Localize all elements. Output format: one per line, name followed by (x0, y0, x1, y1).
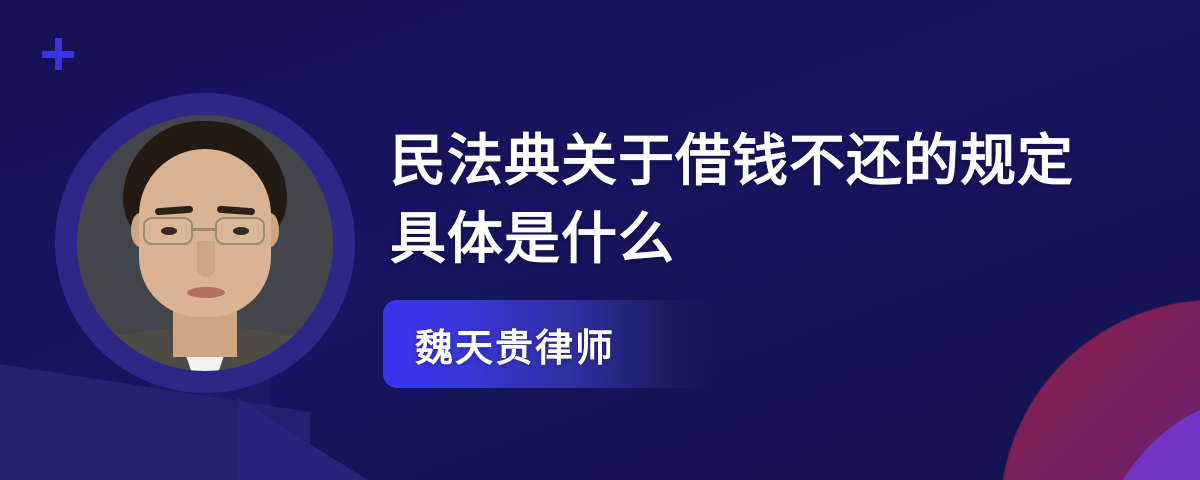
portrait-mouth (187, 287, 225, 298)
glasses-lens-left (143, 217, 193, 245)
glasses-bridge (193, 228, 215, 231)
presenter-name-label: 魏天贵律师 (383, 317, 615, 372)
avatar-photo (77, 115, 333, 371)
video-cover: 民法典关于借钱不还的规定具体是什么 魏天贵律师 (0, 0, 1200, 480)
plus-icon (42, 38, 74, 70)
presenter-name-badge[interactable]: 魏天贵律师 (383, 300, 715, 388)
page-title: 民法典关于借钱不还的规定具体是什么 (390, 122, 1080, 278)
portrait-nose (197, 241, 215, 277)
avatar (55, 93, 355, 393)
glasses-lens-right (215, 217, 265, 245)
